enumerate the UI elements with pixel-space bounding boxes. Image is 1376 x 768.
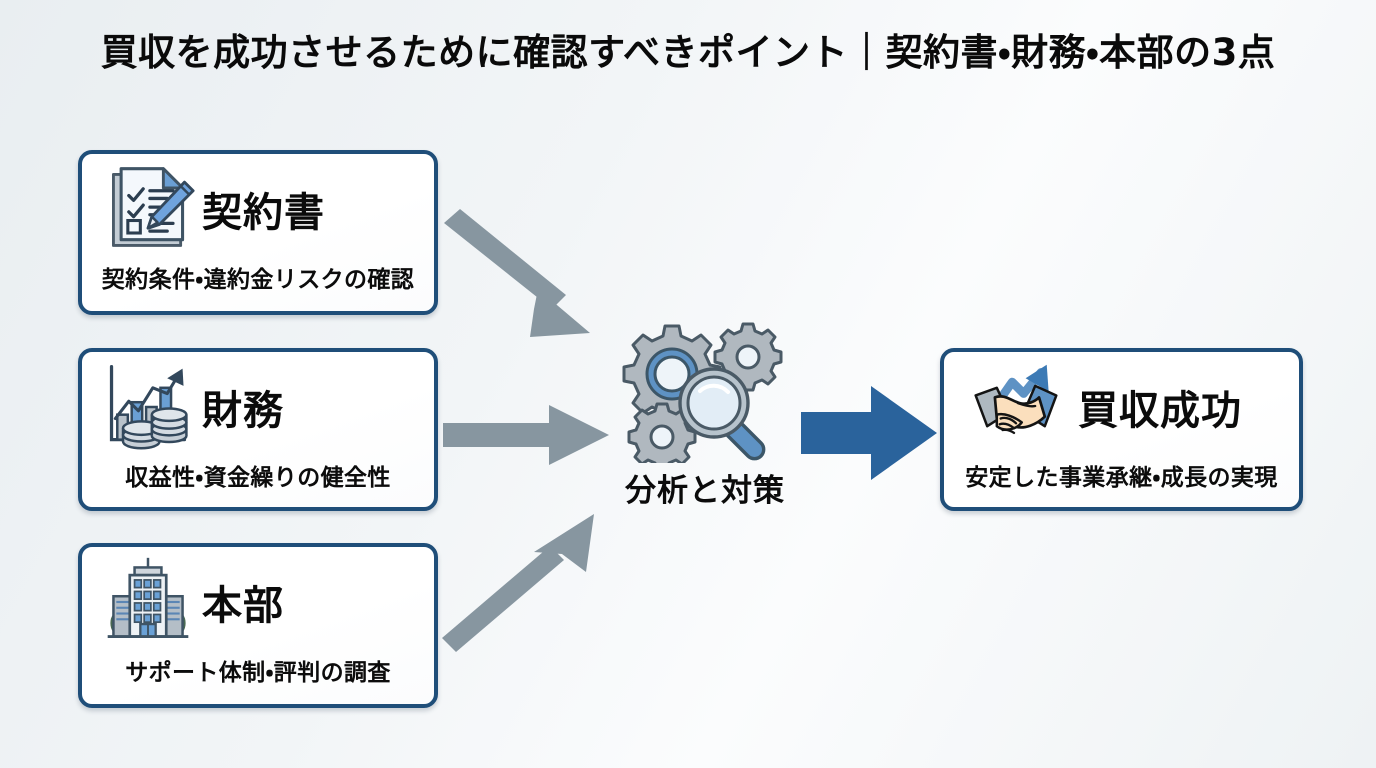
card-header: 本部	[82, 547, 434, 651]
card-title: 買収成功	[1078, 378, 1242, 436]
arrow-finance-to-center	[437, 395, 622, 475]
office-building-icon	[100, 554, 196, 650]
gears-magnifier-icon	[620, 318, 790, 463]
checkpoint-card-finance: 財務 収益性・資金繰りの健全性	[78, 348, 438, 511]
arrow-center-to-result	[795, 378, 945, 488]
card-subtitle: サポート体制・評判の調査	[82, 653, 434, 687]
arrow-hq-to-center	[430, 490, 630, 655]
bar-chart-coins-icon	[100, 359, 196, 455]
card-title: 財務	[202, 378, 284, 436]
card-title: 本部	[202, 573, 284, 631]
card-header: 財務	[82, 352, 434, 456]
card-subtitle: 契約条件・違約金リスクの確認	[82, 260, 434, 294]
card-header: 買収成功	[944, 352, 1299, 456]
center-analysis-node: 分析と対策	[600, 318, 810, 510]
result-card-success: 買収成功 安定した事業承継・成長の実現	[940, 348, 1303, 511]
checkpoint-card-contract: 契約書 契約条件・違約金リスクの確認	[78, 150, 438, 315]
card-subtitle: 安定した事業承継・成長の実現	[944, 458, 1299, 492]
handshake-growth-arrow-icon	[968, 359, 1064, 455]
document-checklist-pencil-icon	[100, 161, 196, 257]
center-node-label: 分析と対策	[600, 465, 810, 510]
checkpoint-card-hq: 本部 サポート体制・評判の調査	[78, 543, 438, 708]
card-subtitle: 収益性・資金繰りの健全性	[82, 458, 434, 492]
page-title: 買収を成功させるために確認すべきポイント｜契約書・財務・本部の3点	[0, 22, 1376, 76]
card-header: 契約書	[82, 154, 434, 258]
card-title: 契約書	[202, 180, 325, 238]
